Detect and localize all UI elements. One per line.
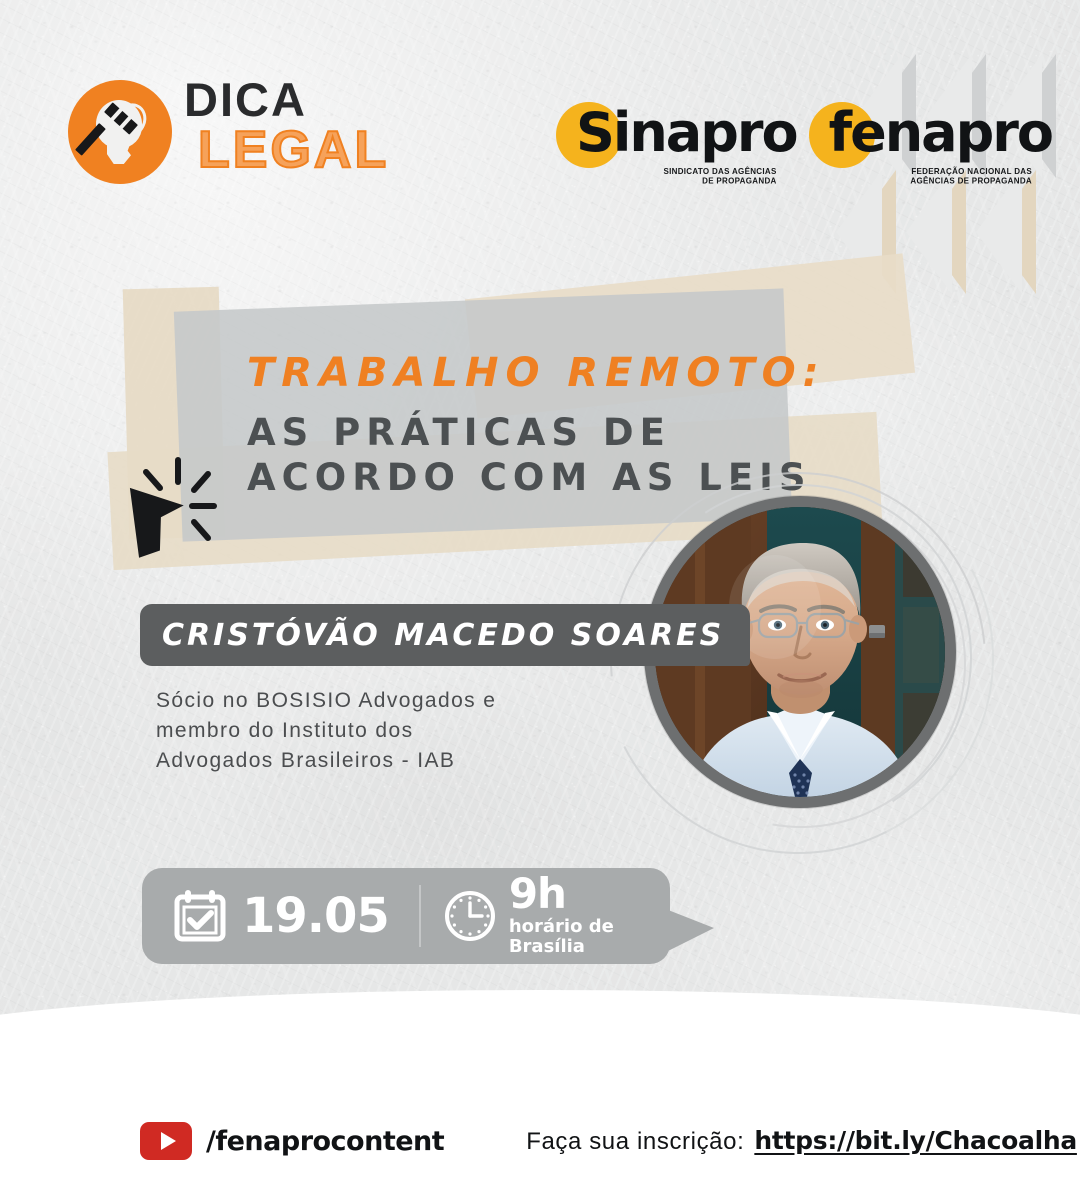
click-cursor-icon — [116, 446, 240, 570]
event-time-column: 9h horário de Brasília — [509, 875, 614, 958]
speaker-name: CRISTÓVÃO MACEDO SOARES — [162, 618, 724, 653]
bulb-base — [107, 142, 131, 164]
speaker-name-banner: CRISTÓVÃO MACEDO SOARES — [140, 604, 750, 666]
lightbulb-shape — [92, 100, 146, 166]
lightbulb-gavel-icon — [68, 80, 172, 184]
youtube-channel[interactable]: /fenaprocontent — [140, 1122, 444, 1160]
sinapro-tagline: SINDICATO DAS AGÊNCIAS DE PROPAGANDA — [663, 167, 776, 187]
calendar-check-icon — [172, 888, 228, 944]
footer: /fenaprocontent Faça sua inscrição: http… — [0, 1082, 1080, 1200]
sinapro-logo: Sinapro SINDICATO DAS AGÊNCIAS DE PROPAG… — [556, 92, 777, 184]
fenapro-wordmark: fenapro — [829, 106, 1052, 160]
dica-legal-logo: DICA LEGAL — [68, 76, 408, 188]
sinapro-wordmark: Sinapro — [576, 106, 797, 160]
registration-link[interactable]: https://bit.ly/Chacoalha — [754, 1126, 1077, 1155]
cta-label: Faça sua inscrição: — [526, 1128, 744, 1156]
event-date: 19.05 — [242, 892, 389, 940]
event-time: 9h — [509, 875, 614, 914]
clock-icon — [443, 889, 497, 943]
title-line-2: AS PRÁTICAS DE — [247, 410, 887, 455]
partner-logos: Sinapro SINDICATO DAS AGÊNCIAS DE PROPAG… — [556, 92, 1032, 192]
youtube-handle[interactable]: /fenaprocontent — [206, 1126, 444, 1157]
logo-word-dica: DICA — [184, 76, 307, 123]
event-time-group: 9h horário de Brasília — [443, 875, 614, 958]
logo-word-legal: LEGAL — [198, 124, 389, 176]
promo-poster: DICA LEGAL Sinapro SINDICATO DAS AGÊNCIA… — [0, 0, 1080, 1200]
title-line-1: TRABALHO REMOTO: — [247, 352, 887, 394]
bubble-divider — [419, 885, 421, 947]
event-date-group: 19.05 — [142, 888, 389, 944]
speaker-bio: Sócio no BOSISIO Advogados e membro do I… — [156, 686, 586, 775]
fenapro-tagline: FEDERAÇÃO NACIONAL DAS AGÊNCIAS DE PROPA… — [910, 167, 1032, 187]
registration-cta: Faça sua inscrição: https://bit.ly/Chaco… — [526, 1126, 1077, 1156]
event-datetime-bubble: 19.05 — [142, 868, 670, 964]
fenapro-logo: fenapro FEDERAÇÃO NACIONAL DAS AGÊNCIAS … — [809, 92, 1032, 184]
event-timezone: horário de Brasília — [509, 917, 614, 957]
youtube-play-icon[interactable] — [140, 1122, 192, 1160]
